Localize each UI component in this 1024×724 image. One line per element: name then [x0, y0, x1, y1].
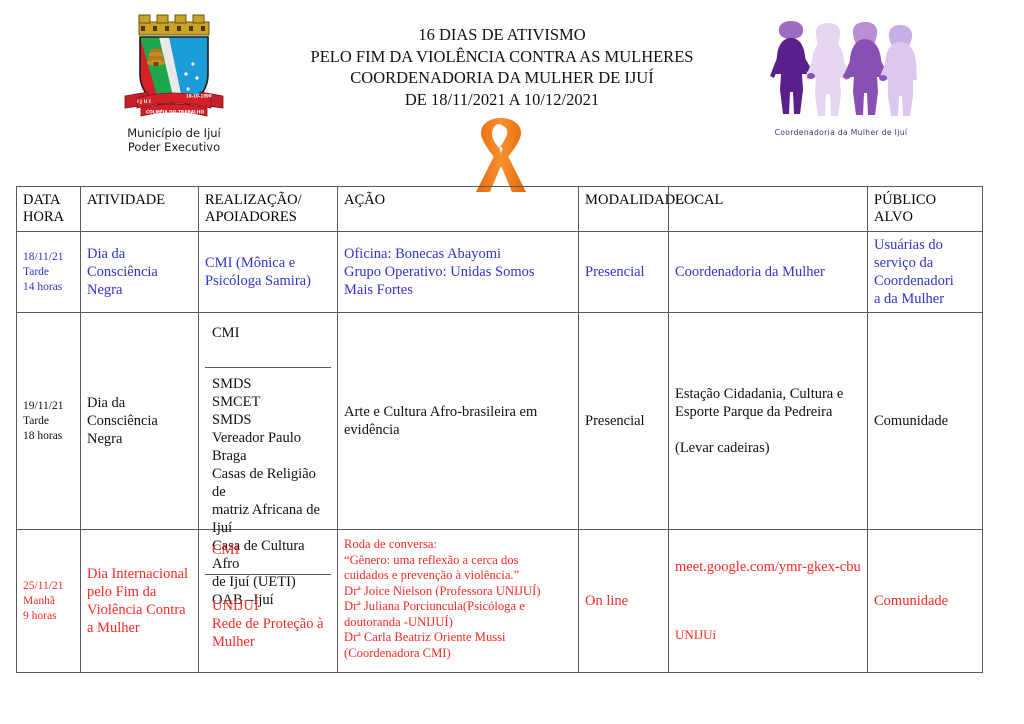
coordenadoria-logo: Coordenadoria da Mulher de Ijuí [756, 14, 926, 137]
page-title: 16 DIAS DE ATIVISMO PELO FIM DA VIOLÊNCI… [262, 24, 742, 110]
cell-publico-alvo: Comunidade [868, 313, 983, 530]
column-header-realizacao: REALIZAÇÃO/ APOIADORES [199, 187, 338, 232]
cell-data-hora: 18/11/21 Tarde 14 horas [17, 232, 81, 313]
women-silhouettes-icon [757, 14, 925, 122]
column-header-local: LOCAL [669, 187, 868, 232]
cell-local: meet.google.com/ymr-gkex-cbu UNIJUí [669, 530, 868, 673]
column-header-modalidade: MODALIDADE [579, 187, 669, 232]
cell-local: Coordenadoria da Mulher [669, 232, 868, 313]
cell-data-hora: 25/11/21 Manhã 9 horas [17, 530, 81, 673]
table-header-row: DATA HORA ATIVIDADE REALIZAÇÃO/ APOIADOR… [17, 187, 983, 232]
municipality-logo-caption: Município de Ijuí Poder Executivo [104, 126, 244, 154]
column-header-atividade: ATIVIDADE [81, 187, 199, 232]
brasao-icon: I J U Í 19-10-1890 COLMÉIA DO TRABALHO [115, 12, 233, 124]
cell-modalidade: On line [579, 530, 669, 673]
cell-atividade: Dia da Consciência Negra [81, 232, 199, 313]
cell-realizacao-supporters: SMDS SMCET SMDS Vereador Paulo Braga Cas… [205, 368, 331, 525]
coordenadoria-logo-caption: Coordenadoria da Mulher de Ijuí [756, 128, 926, 137]
cell-publico-alvo: Usuárias do serviço da Coordenadori a da… [868, 232, 983, 313]
column-header-data-hora: DATA HORA [17, 187, 81, 232]
svg-text:19-10-1890: 19-10-1890 [186, 94, 212, 99]
cell-local: Estação Cidadania, Cultura e Esporte Par… [669, 313, 868, 530]
cell-realizacao: CMI (Mônica e Psicóloga Samira) [199, 232, 338, 313]
title-line-1: 16 DIAS DE ATIVISMO [262, 24, 742, 46]
table-row: 25/11/21 Manhã 9 horas Dia Internacional… [17, 530, 983, 673]
page-header: I J U Í 19-10-1890 COLMÉIA DO TRABALHO M… [0, 0, 1024, 185]
cell-acao: Roda de conversa: “Gênero: uma reflexão … [338, 530, 579, 673]
local-institution: UNIJUí [675, 626, 861, 644]
meeting-link[interactable]: meet.google.com/ymr-gkex-cbu [675, 558, 861, 576]
column-header-acao: AÇÃO [338, 187, 579, 232]
cell-realizacao: CMI SMDS SMCET SMDS Vereador Paulo Braga… [199, 313, 338, 530]
title-line-2: PELO FIM DA VIOLÊNCIA CONTRA AS MULHERES [262, 46, 742, 68]
cell-acao: Oficina: Bonecas Abayomi Grupo Operativo… [338, 232, 579, 313]
cell-data-hora: 19/11/21 Tarde 18 horas [17, 313, 81, 530]
activity-schedule-table: DATA HORA ATIVIDADE REALIZAÇÃO/ APOIADOR… [16, 186, 983, 673]
cell-realizacao-primary: CMI [205, 317, 331, 368]
municipality-logo: I J U Í 19-10-1890 COLMÉIA DO TRABALHO M… [104, 12, 244, 154]
title-line-4: DE 18/11/2021 A 10/12/2021 [262, 89, 742, 111]
table-row: 19/11/21 Tarde 18 horas Dia da Consciênc… [17, 313, 983, 530]
cell-modalidade: Presencial [579, 313, 669, 530]
column-header-publico-alvo: PÚBLICO ALVO [868, 187, 983, 232]
cell-atividade: Dia Internacional pelo Fim da Violência … [81, 530, 199, 673]
cell-atividade: Dia da Consciência Negra [81, 313, 199, 530]
cell-acao: Arte e Cultura Afro-brasileira em evidên… [338, 313, 579, 530]
cell-publico-alvo: Comunidade [868, 530, 983, 673]
cell-modalidade: Presencial [579, 232, 669, 313]
table-row: 18/11/21 Tarde 14 horas Dia da Consciênc… [17, 232, 983, 313]
title-line-3: COORDENADORIA DA MULHER DE IJUÍ [262, 67, 742, 89]
